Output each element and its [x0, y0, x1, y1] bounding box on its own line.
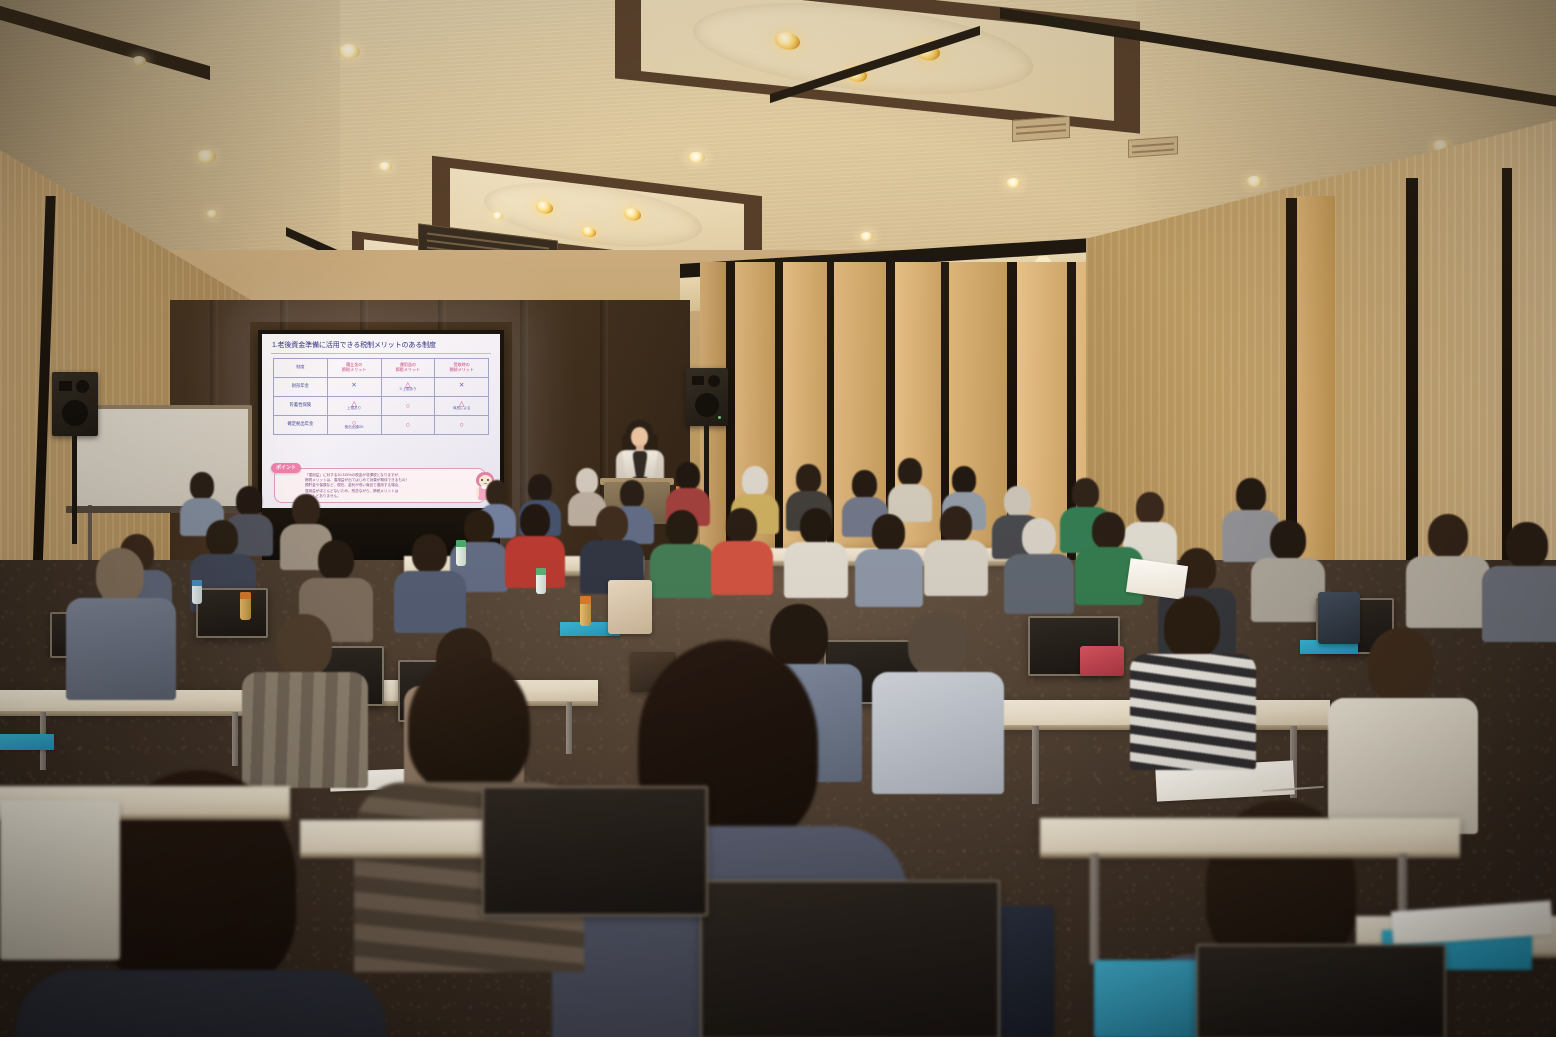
slide-cell-1-2: △ 商品による	[435, 396, 489, 415]
whiteboard-leg-left	[88, 505, 92, 563]
ceiling-downlight-2	[338, 44, 360, 59]
slide-cell-0-0: ✕	[327, 377, 381, 396]
blue-folder[interactable]	[0, 734, 54, 750]
banquet-chair[interactable]	[700, 880, 1000, 1037]
tea-bottle[interactable]	[240, 592, 251, 620]
tea-bottle[interactable]	[580, 596, 591, 626]
tote-bag-foreground[interactable]	[1094, 960, 1206, 1037]
slide-mark: ○	[435, 421, 488, 428]
slide-table: 制度 積立金の 節税メリット 運用益の 節税メリット 受取時の 税制メリット	[273, 358, 489, 435]
presenter-face	[631, 427, 648, 447]
tote-bag[interactable]	[608, 580, 652, 634]
ceiling-downlight-5	[688, 152, 705, 163]
speaker-stand-left	[72, 436, 77, 544]
pa-speaker-left	[52, 372, 98, 436]
slide-title-rule	[271, 353, 491, 354]
slide-note: 上限あり	[328, 407, 381, 411]
slide-th-2-main: 節税メリット	[382, 368, 435, 373]
slide-table-row: 貯蓄性保険 △ 上限あり ○ △ 商品による	[274, 396, 489, 415]
slide-cell-2-0: ○ 拠出全額OK	[327, 415, 381, 434]
slide-mark: ○	[382, 402, 435, 409]
slide-note: ※上限あり	[382, 388, 435, 392]
slide-mark: ✕	[328, 383, 381, 390]
slide-th-0-main: 制度	[296, 364, 304, 369]
pouch[interactable]	[1080, 646, 1124, 676]
water-bottle[interactable]	[536, 568, 546, 594]
seminar-room-photo: 1.老後資金準備に活用できる税制メリットのある制度 制度 積立金の 節税メリット…	[0, 0, 1556, 1037]
slat-groove	[775, 262, 783, 592]
slide-cell-0-2: ✕	[435, 377, 489, 396]
water-bottle[interactable]	[456, 540, 466, 566]
table-leg	[566, 702, 572, 754]
slide-mark: ○	[382, 421, 435, 428]
table-leg	[1032, 726, 1039, 804]
slide-th-3: 受取時の 税制メリット	[435, 358, 489, 377]
slide-table-row: 財形年金 ✕ △ ※上限あり ✕	[274, 377, 489, 396]
slide-th-1: 積立金の 節税メリット	[327, 358, 381, 377]
slide-table-row: 確定拠出年金 ○ 拠出全額OK ○ ○	[274, 415, 489, 434]
ceiling-downlight-4	[378, 162, 392, 171]
ceiling-downlight-6	[860, 232, 873, 241]
slide-cell-2-1: ○	[381, 415, 435, 434]
slide-row-1-label: 貯蓄性保険	[274, 396, 328, 415]
pa-speaker-right	[686, 368, 728, 426]
slide-content: 1.老後資金準備に活用できる税制メリットのある制度 制度 積立金の 節税メリット…	[262, 334, 500, 508]
table-leg	[232, 712, 238, 766]
slide-mark: ✕	[435, 383, 488, 390]
table-foreground-right	[1040, 818, 1460, 854]
slide-title: 1.老後資金準備に活用できる税制メリットのある制度	[269, 340, 493, 350]
slide-row-0-label: 財形年金	[274, 377, 328, 396]
slide-th-3-main: 税制メリット	[435, 368, 488, 373]
slide-th-1-main: 節税メリット	[328, 368, 381, 373]
slide-cell-2-2: ○	[435, 415, 489, 434]
ceiling-downlight-7	[1006, 178, 1021, 188]
table-leg	[1090, 854, 1099, 964]
banquet-chair[interactable]	[1196, 944, 1446, 1037]
slide-th-2: 運用益の 節税メリット	[381, 358, 435, 377]
slide-note: 商品による	[435, 407, 488, 411]
slide-note: 拠出全額OK	[328, 426, 381, 430]
water-bottle[interactable]	[192, 580, 202, 604]
slide-point-line-4: ほとんどありません。	[305, 494, 480, 499]
slide-th-0: 制度	[274, 358, 328, 377]
banquet-chair[interactable]	[196, 588, 268, 638]
slide-point-badge: ポイント	[271, 463, 301, 473]
ceiling-air-vent-2	[1012, 116, 1070, 142]
slide-cell-1-0: △ 上限あり	[327, 396, 381, 415]
slide-cell-0-1: △ ※上限あり	[381, 377, 435, 396]
slide-row-2-label: 確定拠出年金	[274, 415, 328, 434]
tote-bag-foreground[interactable]	[0, 800, 120, 960]
slide-table-header-row: 制度 積立金の 節税メリット 運用益の 節税メリット 受取時の 税制メリット	[274, 358, 489, 377]
whiteboard-tray	[66, 506, 258, 513]
tote-bag[interactable]	[1318, 592, 1360, 644]
whiteboard-surface	[76, 409, 248, 506]
slide-cell-1-1: ○	[381, 396, 435, 415]
ceiling-downlight-12	[492, 212, 503, 220]
banquet-chair[interactable]	[482, 786, 708, 916]
projection-screen: 1.老後資金準備に活用できる税制メリットのある制度 制度 積立金の 節税メリット…	[262, 334, 500, 508]
